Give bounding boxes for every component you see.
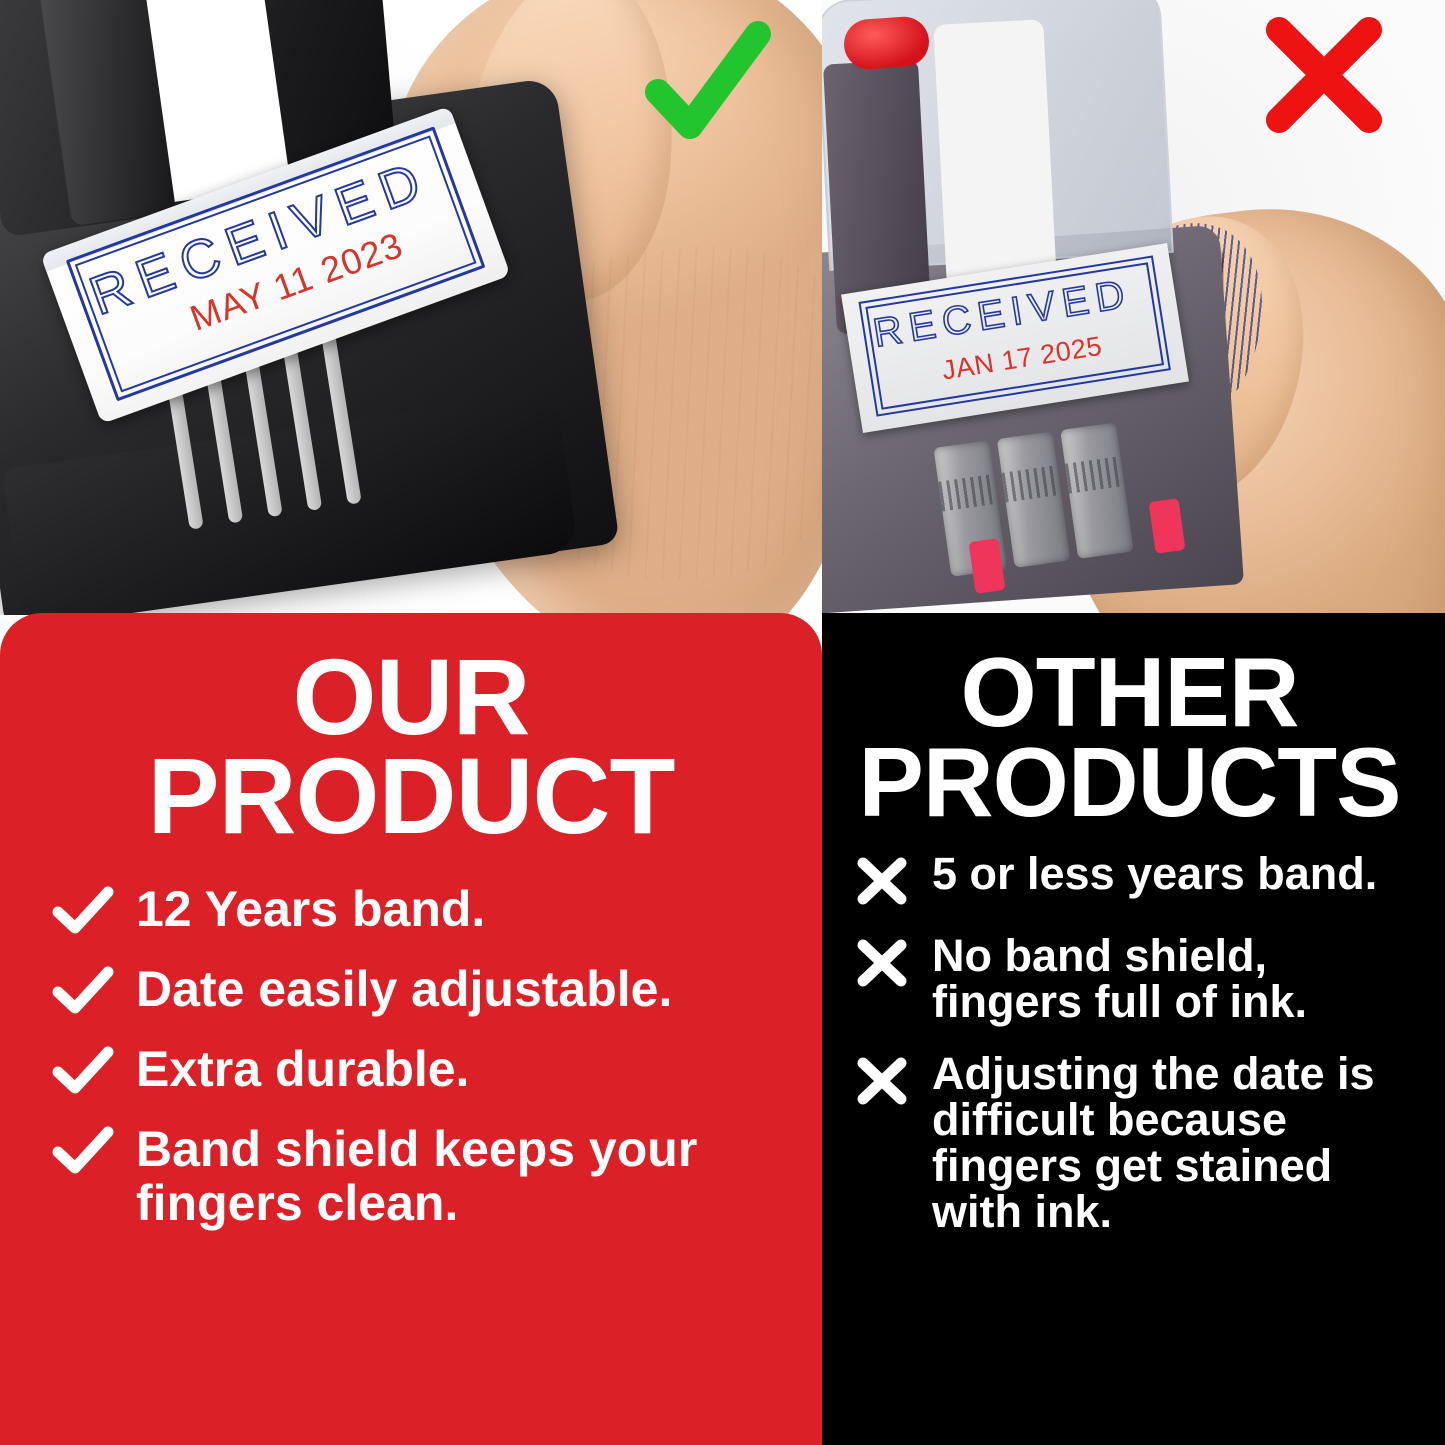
list-item: No band shield, fingers full of ink. bbox=[844, 933, 1415, 1025]
list-item-label: Adjusting the date is difficult because … bbox=[932, 1051, 1415, 1235]
check-icon bbox=[636, 18, 776, 148]
red-button bbox=[842, 15, 930, 71]
list-item: Extra durable. bbox=[30, 1042, 792, 1096]
our-product-heading: OUR PRODUCT bbox=[30, 647, 792, 846]
list-item-label: 5 or less years band. bbox=[932, 851, 1415, 897]
list-item-label: 12 Years band. bbox=[136, 882, 792, 936]
list-item-label: No band shield, fingers full of ink. bbox=[932, 933, 1415, 1025]
list-item: Band shield keeps your fingers clean. bbox=[30, 1122, 792, 1230]
our-product-bullet-list: 12 Years band. Date easily adjustable. E… bbox=[30, 882, 792, 1230]
our-product-heading-line2: PRODUCT bbox=[30, 746, 792, 845]
our-product-heading-line1: OUR bbox=[30, 647, 792, 746]
stamp-arch-gap bbox=[933, 19, 1056, 284]
list-item-label: Date easily adjustable. bbox=[136, 962, 792, 1016]
date-band bbox=[997, 431, 1071, 568]
other-products-bullet-list: 5 or less years band. No band shield, fi… bbox=[844, 851, 1415, 1234]
check-icon bbox=[52, 966, 114, 1014]
other-products-heading-line2: PRODUCTS bbox=[844, 737, 1415, 827]
list-item-label: Band shield keeps your fingers clean. bbox=[136, 1122, 792, 1230]
feature-comparison: OUR PRODUCT 12 Years band. Date easily a… bbox=[0, 613, 1445, 1445]
other-products-panel: OTHER PRODUCTS 5 or less years band. No … bbox=[822, 613, 1445, 1445]
x-icon bbox=[1259, 14, 1389, 136]
check-icon bbox=[52, 1046, 114, 1094]
comparison-infographic: RECEIVED MAY 11 2023 bbox=[0, 0, 1445, 1445]
other-products-heading-line1: OTHER bbox=[844, 647, 1415, 737]
list-item: Date easily adjustable. bbox=[30, 962, 792, 1016]
our-product-photo: RECEIVED MAY 11 2023 bbox=[0, 0, 822, 615]
list-item: 12 Years band. bbox=[30, 882, 792, 936]
check-icon bbox=[52, 1126, 114, 1174]
band-rib bbox=[281, 336, 322, 511]
x-icon bbox=[854, 855, 910, 907]
x-icon bbox=[854, 1055, 910, 1107]
check-icon bbox=[52, 886, 114, 934]
x-icon bbox=[854, 937, 910, 989]
product-photo-row: RECEIVED MAY 11 2023 bbox=[0, 0, 1445, 615]
other-products-heading: OTHER PRODUCTS bbox=[844, 647, 1415, 827]
date-band bbox=[1060, 422, 1134, 559]
list-item: Adjusting the date is difficult because … bbox=[844, 1051, 1415, 1235]
band-rib bbox=[321, 330, 362, 505]
our-product-panel: OUR PRODUCT 12 Years band. Date easily a… bbox=[0, 613, 822, 1445]
list-item: 5 or less years band. bbox=[844, 851, 1415, 907]
other-products-photo: RECEIVED JAN 17 2025 bbox=[822, 0, 1445, 615]
list-item-label: Extra durable. bbox=[136, 1042, 792, 1096]
